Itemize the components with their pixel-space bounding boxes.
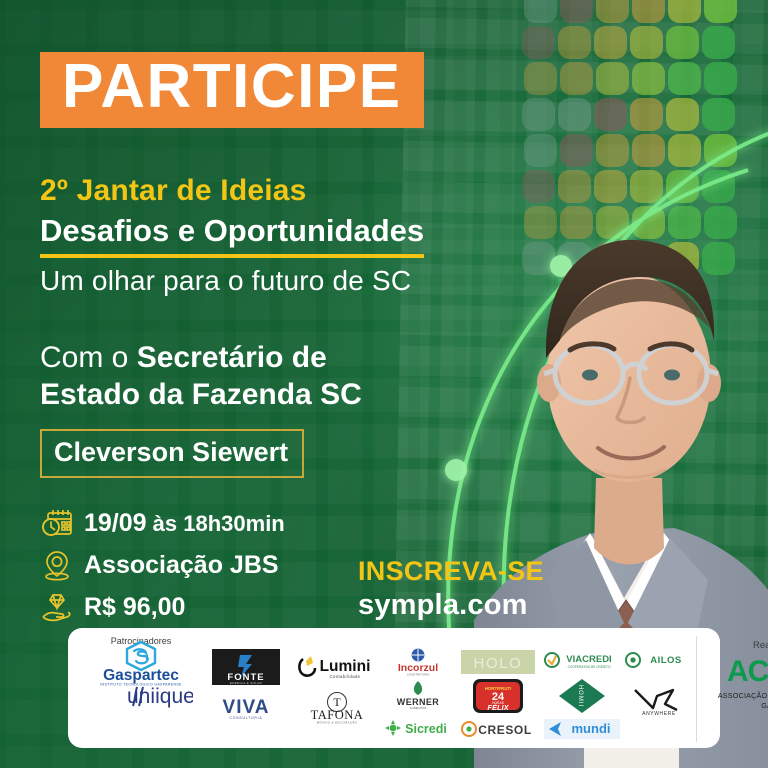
- svg-text:ENERGIA E SOLAR: ENERGIA E SOLAR: [230, 681, 262, 685]
- svg-text:AILOS: AILOS: [650, 655, 682, 666]
- svg-text:CRESOL: CRESOL: [478, 723, 532, 737]
- calendar-clock-icon: [40, 507, 74, 539]
- logo-unifique: uni ique: [89, 680, 193, 712]
- svg-text:VIACREDI: VIACREDI: [566, 654, 611, 665]
- logo-ailos: AILOS: [624, 648, 694, 676]
- event-price-text: R$ 96,00: [84, 593, 185, 622]
- event-info-block: 19/09 às 18h30min Associação JBS: [40, 505, 285, 631]
- event-poster: PARTICIPE 2º Jantar de Ideias Desafios e…: [0, 0, 768, 768]
- svg-text:T: T: [333, 695, 341, 709]
- sponsor-column-7: AILOS ANYWHERE: [622, 636, 696, 742]
- decorative-dot: [560, 0, 593, 23]
- svg-text:ique: ique: [155, 685, 193, 708]
- participe-badge: PARTICIPE: [40, 52, 424, 128]
- event-info-row-location: Associação JBS: [40, 547, 285, 583]
- svg-text:Lumini: Lumini: [320, 658, 371, 675]
- event-time-value: às 18h30min: [147, 511, 285, 536]
- svg-text:HOMII: HOMII: [577, 685, 583, 707]
- svg-text:COOPERATIVA DE CRÉDITO: COOPERATIVA DE CRÉDITO: [568, 664, 611, 669]
- location-pin-icon: [40, 549, 74, 581]
- hand-money-icon: [40, 591, 74, 623]
- event-info-row-date: 19/09 às 18h30min: [40, 505, 285, 541]
- sponsor-column-2: FONTE ENERGIA E SOLAR VIVA CONSULTORIA: [200, 636, 292, 742]
- logo-cresol: CRESOL: [460, 715, 536, 742]
- logo-viacredi: VIACREDI COOPERATIVA DE CRÉDITO: [543, 648, 621, 675]
- logo-homii: HOMII: [555, 679, 609, 713]
- decorative-dot: [668, 0, 701, 23]
- logo-felix: HORTIFRUTI 24 HORAS FÉLIX: [470, 679, 526, 713]
- acig-wordmark: ACIG: [727, 657, 768, 687]
- svg-text:ANYWHERE: ANYWHERE: [642, 711, 676, 717]
- svg-text:CONSTRUTORA: CONSTRUTORA: [407, 673, 429, 677]
- svg-text:CONSULTORIA: CONSULTORIA: [230, 716, 263, 720]
- decorative-dot: [558, 26, 591, 59]
- svg-text:ALIMENTOS: ALIMENTOS: [410, 706, 427, 710]
- logo-holo: HOLO: [460, 648, 536, 675]
- event-subtitle: Um olhar para o futuro de SC: [40, 265, 510, 297]
- svg-text:MÓVEIS & DECORAÇÃO: MÓVEIS & DECORAÇÃO: [317, 720, 358, 725]
- svg-text:mundi: mundi: [572, 721, 611, 736]
- decorative-dot: [704, 0, 737, 23]
- acig-logo: ACIG: [727, 657, 768, 687]
- speaker-intro-text: Com o: [40, 341, 137, 374]
- decorative-dot: [666, 26, 699, 59]
- logo-mundi: mundi: [543, 715, 621, 742]
- sponsor-column-3: Lumini Contabilidade T TAFONA MÓVEIS & D…: [292, 636, 382, 742]
- svg-text:Contabilidade: Contabilidade: [330, 674, 361, 679]
- logo-tafona: T TAFONA MÓVEIS & DECORAÇÃO: [298, 692, 376, 724]
- sponsors-section: Patrocinadores Gaspartec INSTITUTO TECNO…: [82, 636, 696, 742]
- decorative-dot: [632, 0, 665, 23]
- speaker-name-box: Cleverson Siewert: [40, 429, 304, 478]
- speaker-role-bold2: Estado da Fazenda SC: [40, 378, 362, 411]
- event-title-line2: Desafios e Oportunidades: [40, 213, 424, 258]
- cta-label: INSCREVA-SE: [358, 556, 544, 587]
- event-location-text: Associação JBS: [84, 551, 279, 580]
- cta-url[interactable]: sympla.com: [358, 589, 544, 622]
- logo-viva: VIVA CONSULTORIA: [209, 692, 283, 724]
- svg-text:Sicredi: Sicredi: [405, 722, 447, 736]
- logo-gaspartec: Gaspartec INSTITUTO TECNOLÓGICO GASPAREN…: [87, 646, 195, 680]
- logo-lumini: Lumini Contabilidade: [295, 652, 379, 686]
- event-title-line1: 2º Jantar de Ideias: [40, 174, 510, 208]
- decorative-dot: [702, 26, 735, 59]
- event-date-text: 19/09 às 18h30min: [84, 509, 285, 538]
- event-title-block: 2º Jantar de Ideias Desafios e Oportunid…: [40, 174, 510, 297]
- organizer-section: Realização ACIG ASSOCIAÇÃO EMPRESARIAL D…: [696, 636, 768, 742]
- sponsor-column-5: HOLO HORTIFRUTI 24 HORAS FÉLIX: [454, 636, 542, 742]
- sponsor-column-4: Incorzul CONSTRUTORA WERNER ALIMENTOS: [382, 636, 454, 742]
- speaker-role-line2: Estado da Fazenda SC: [40, 377, 500, 414]
- decorative-dot: [524, 0, 557, 23]
- decorative-dot: [522, 26, 555, 59]
- event-info-row-price: R$ 96,00: [40, 589, 285, 625]
- logo-anywhere: ANYWHERE: [627, 684, 691, 718]
- sponsor-column-6: VIACREDI COOPERATIVA DE CRÉDITO HOMII mu…: [542, 636, 622, 742]
- organizer-label: Realização: [753, 640, 768, 651]
- svg-text:VIVA: VIVA: [223, 697, 270, 718]
- svg-text:FÉLIX: FÉLIX: [487, 703, 509, 712]
- speaker-role-bold1: Secretário de: [137, 341, 327, 374]
- decorative-dot: [596, 0, 629, 23]
- logo-werner: WERNER ALIMENTOS: [386, 680, 450, 712]
- speaker-role-line1: Com o Secretário de: [40, 340, 500, 377]
- sponsor-card: Patrocinadores Gaspartec INSTITUTO TECNO…: [68, 628, 720, 748]
- acig-subtitle: ASSOCIAÇÃO EMPRESARIAL DE GASPAR: [709, 691, 768, 710]
- sponsor-column-1: Patrocinadores Gaspartec INSTITUTO TECNO…: [82, 636, 200, 742]
- decorative-dot: [630, 26, 663, 59]
- logo-incorzul: Incorzul CONSTRUTORA: [386, 648, 450, 676]
- decorative-dot: [594, 26, 627, 59]
- svg-text:HOLO: HOLO: [474, 655, 523, 672]
- logo-fonte: FONTE ENERGIA E SOLAR: [210, 650, 282, 684]
- registration-cta[interactable]: INSCREVA-SE sympla.com: [358, 556, 544, 622]
- event-date-value: 19/09: [84, 509, 147, 537]
- logo-sicredi: Sicredi: [384, 714, 452, 742]
- speaker-block: Com o Secretário de Estado da Fazenda SC…: [40, 340, 500, 478]
